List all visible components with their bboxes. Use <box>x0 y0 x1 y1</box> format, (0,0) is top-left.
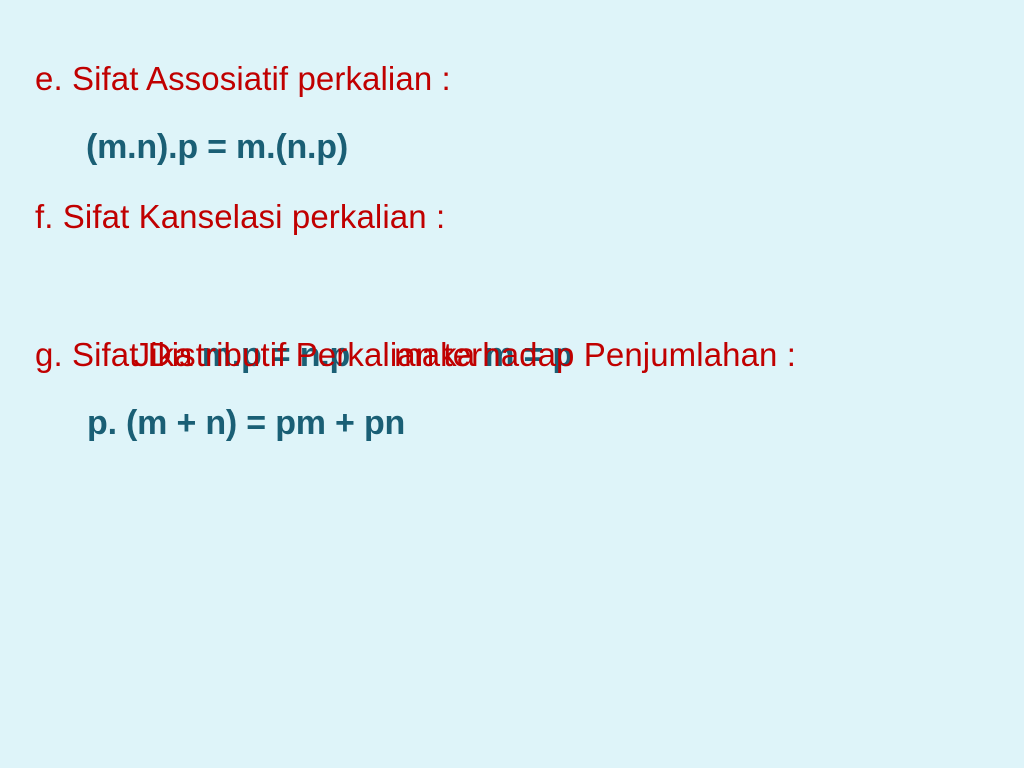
property-f-statement: Jikam.p = n.pmakam = p <box>0 251 1024 320</box>
property-f-heading: f. Sifat Kanselasi perkalian : <box>0 182 1024 251</box>
property-e-heading: e. Sifat Assosiatif perkalian : <box>0 44 1024 113</box>
property-g-heading: g. Sifat Distributif Perkalian terhadap … <box>0 320 1024 389</box>
property-g-formula: p. (m + n) = pm + pn <box>0 389 1024 458</box>
property-e-formula: (m.n).p = m.(n.p) <box>0 113 1024 182</box>
slide-canvas: e. Sifat Assosiatif perkalian : (m.n).p … <box>0 0 1024 768</box>
slide-content: e. Sifat Assosiatif perkalian : (m.n).p … <box>0 44 1024 458</box>
